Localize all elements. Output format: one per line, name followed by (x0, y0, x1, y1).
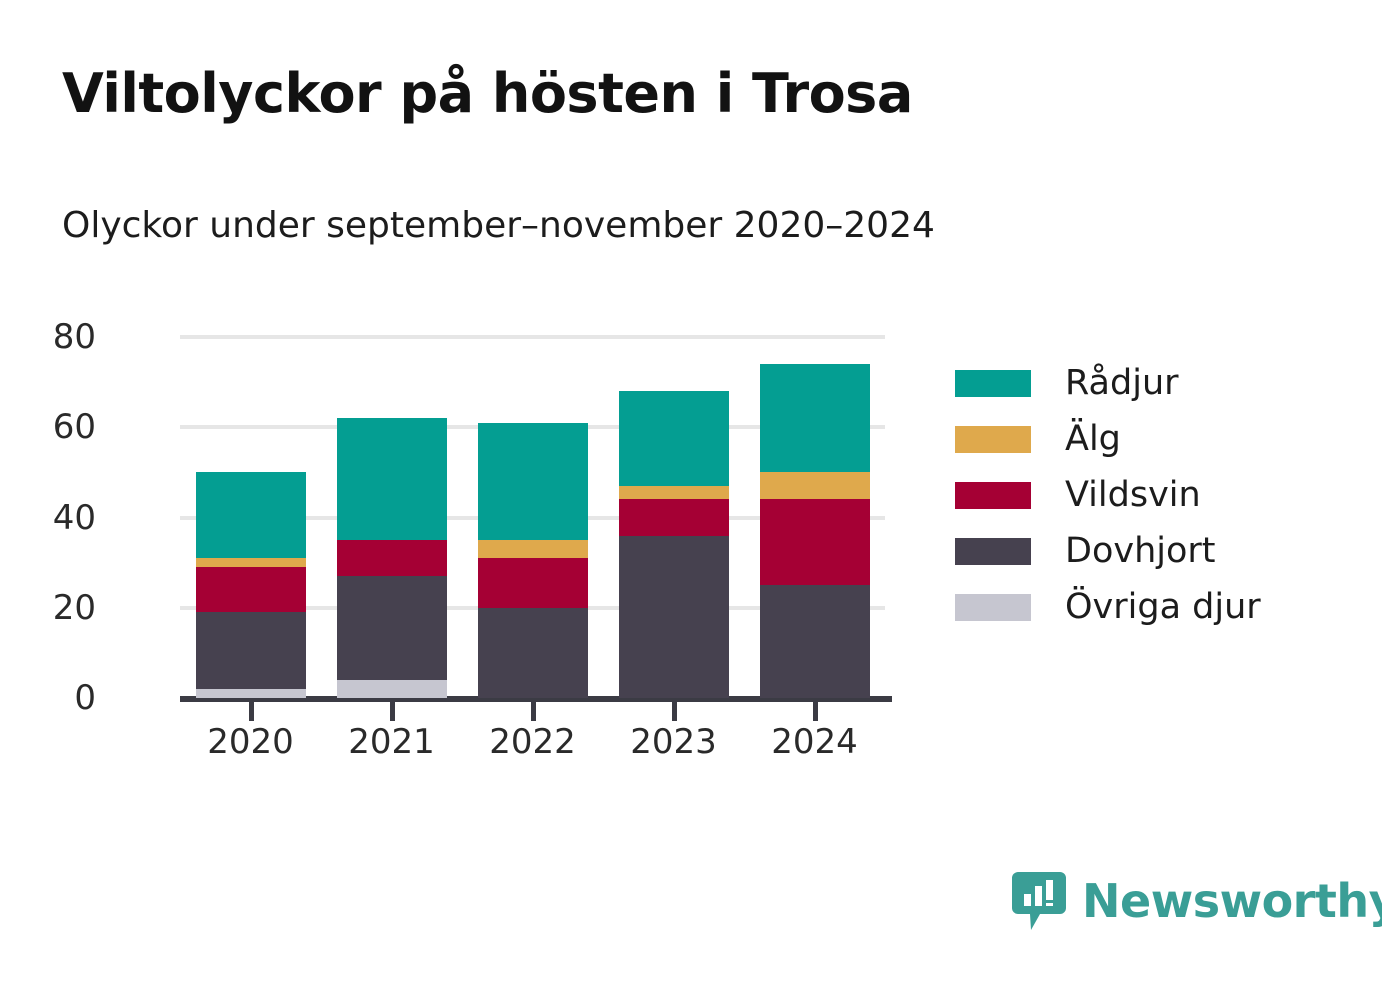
y-tick-label: 40 (0, 498, 96, 538)
legend-item-dovhjort[interactable]: Dovhjort (955, 523, 1355, 579)
x-tick-label-2020: 2020 (181, 722, 321, 762)
legend-swatch-icon (955, 538, 1031, 565)
bar-segment-2021-dovhjort[interactable] (337, 576, 447, 680)
x-tick-label-2022: 2022 (463, 722, 603, 762)
logo-wordmark: Newsworthy (1082, 874, 1382, 928)
x-tick-2020 (249, 702, 254, 721)
y-tick-label: 80 (0, 317, 96, 357)
legend-label: Älg (1065, 419, 1121, 459)
bar-segment-2022-rådjur[interactable] (478, 423, 588, 540)
chart-legend: RådjurÄlgVildsvinDovhjortÖvriga djur (955, 355, 1355, 635)
bar-segment-2022-vildsvin[interactable] (478, 558, 588, 608)
bar-segment-2023-älg[interactable] (619, 486, 729, 500)
bar-segment-2020-rådjur[interactable] (196, 472, 306, 558)
bar-2023[interactable] (619, 391, 729, 698)
y-tick-label: 20 (0, 588, 96, 628)
x-tick-2022 (531, 702, 536, 721)
bar-2021[interactable] (337, 418, 447, 698)
bar-segment-2024-vildsvin[interactable] (760, 499, 870, 585)
bar-segment-2021-rådjur[interactable] (337, 418, 447, 540)
x-tick-label-2021: 2021 (322, 722, 462, 762)
legend-label: Vildsvin (1065, 475, 1201, 515)
legend-swatch-icon (955, 594, 1031, 621)
chart-page: Viltolyckor på hösten i Trosa Olyckor un… (0, 0, 1382, 999)
legend-label: Dovhjort (1065, 531, 1216, 571)
x-tick-2024 (813, 702, 818, 721)
x-tick-2023 (672, 702, 677, 721)
legend-item-älg[interactable]: Älg (955, 411, 1355, 467)
bar-segment-2024-älg[interactable] (760, 472, 870, 499)
legend-swatch-icon (955, 482, 1031, 509)
legend-swatch-icon (955, 370, 1031, 397)
bar-segment-2023-rådjur[interactable] (619, 391, 729, 486)
x-tick-label-2024: 2024 (745, 722, 885, 762)
bar-segment-2021-vildsvin[interactable] (337, 540, 447, 576)
bar-segment-2022-älg[interactable] (478, 540, 588, 558)
bar-segment-2023-dovhjort[interactable] (619, 536, 729, 698)
bar-2020[interactable] (196, 472, 306, 698)
bar-2022[interactable] (478, 423, 588, 698)
bar-chart-speech-bubble-icon (1012, 872, 1066, 930)
bar-segment-2023-vildsvin[interactable] (619, 499, 729, 535)
bar-segment-2020-älg[interactable] (196, 558, 306, 567)
legend-item-övriga-djur[interactable]: Övriga djur (955, 579, 1355, 635)
bar-segment-2021-övriga-djur[interactable] (337, 680, 447, 698)
legend-swatch-icon (955, 426, 1031, 453)
y-tick-label: 60 (0, 407, 96, 447)
bar-segment-2024-dovhjort[interactable] (760, 585, 870, 698)
x-tick-label-2023: 2023 (604, 722, 744, 762)
newsworthy-logo: Newsworthy (1012, 872, 1382, 930)
legend-label: Övriga djur (1065, 587, 1261, 627)
bar-segment-2020-vildsvin[interactable] (196, 567, 306, 612)
bar-segment-2022-dovhjort[interactable] (478, 608, 588, 698)
bar-segment-2020-övriga-djur[interactable] (196, 689, 306, 698)
x-tick-2021 (390, 702, 395, 721)
legend-item-vildsvin[interactable]: Vildsvin (955, 467, 1355, 523)
gridline-80 (180, 335, 885, 339)
legend-label: Rådjur (1065, 363, 1179, 403)
bar-segment-2020-dovhjort[interactable] (196, 612, 306, 689)
legend-item-rådjur[interactable]: Rådjur (955, 355, 1355, 411)
bar-2024[interactable] (760, 364, 870, 698)
bar-segment-2024-rådjur[interactable] (760, 364, 870, 472)
y-tick-label: 0 (0, 678, 96, 718)
